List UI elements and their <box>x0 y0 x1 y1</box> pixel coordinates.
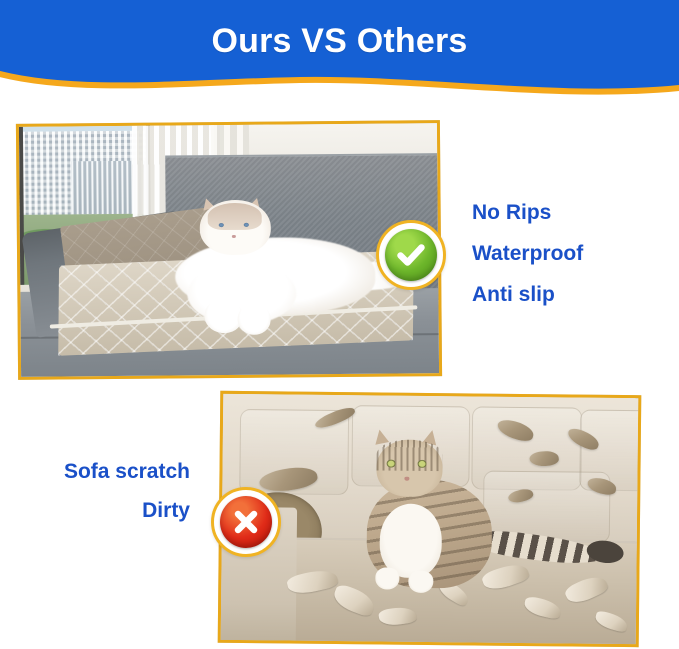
white-cat-eye-left <box>218 223 223 227</box>
x-badge <box>211 487 281 557</box>
check-icon <box>394 238 428 272</box>
problem-item-sofa-scratch: Sofa scratch <box>8 452 190 491</box>
feature-item-anti-slip: Anti slip <box>472 274 672 315</box>
feature-item-no-rips: No Rips <box>472 192 672 233</box>
tabby-cat-eye-right <box>418 460 427 468</box>
white-cat-face-mask <box>208 202 263 230</box>
header-banner: Ours VS Others <box>0 0 679 104</box>
tabby-cat-eye-left <box>386 460 395 468</box>
tabby-cat-head <box>376 440 443 497</box>
product-photo-bad <box>218 391 642 647</box>
check-badge-disc <box>385 229 437 281</box>
x-icon <box>231 507 261 537</box>
page-title: Ours VS Others <box>0 21 679 61</box>
problem-item-dirty: Dirty <box>8 491 190 530</box>
white-cat-nose <box>231 235 235 238</box>
tabby-cat-nose <box>404 477 409 481</box>
problem-list: Sofa scratch Dirty <box>8 452 190 530</box>
x-badge-disc <box>220 496 272 548</box>
white-cat-eye-right <box>243 222 248 226</box>
feature-list: No Rips Waterproof Anti slip <box>472 192 672 315</box>
tabby-cat-paw-right <box>408 570 433 592</box>
photo-bad-scene <box>221 394 639 644</box>
feature-item-waterproof: Waterproof <box>472 233 672 274</box>
check-badge <box>376 220 446 290</box>
tabby-cat-head-stripes <box>376 440 443 472</box>
